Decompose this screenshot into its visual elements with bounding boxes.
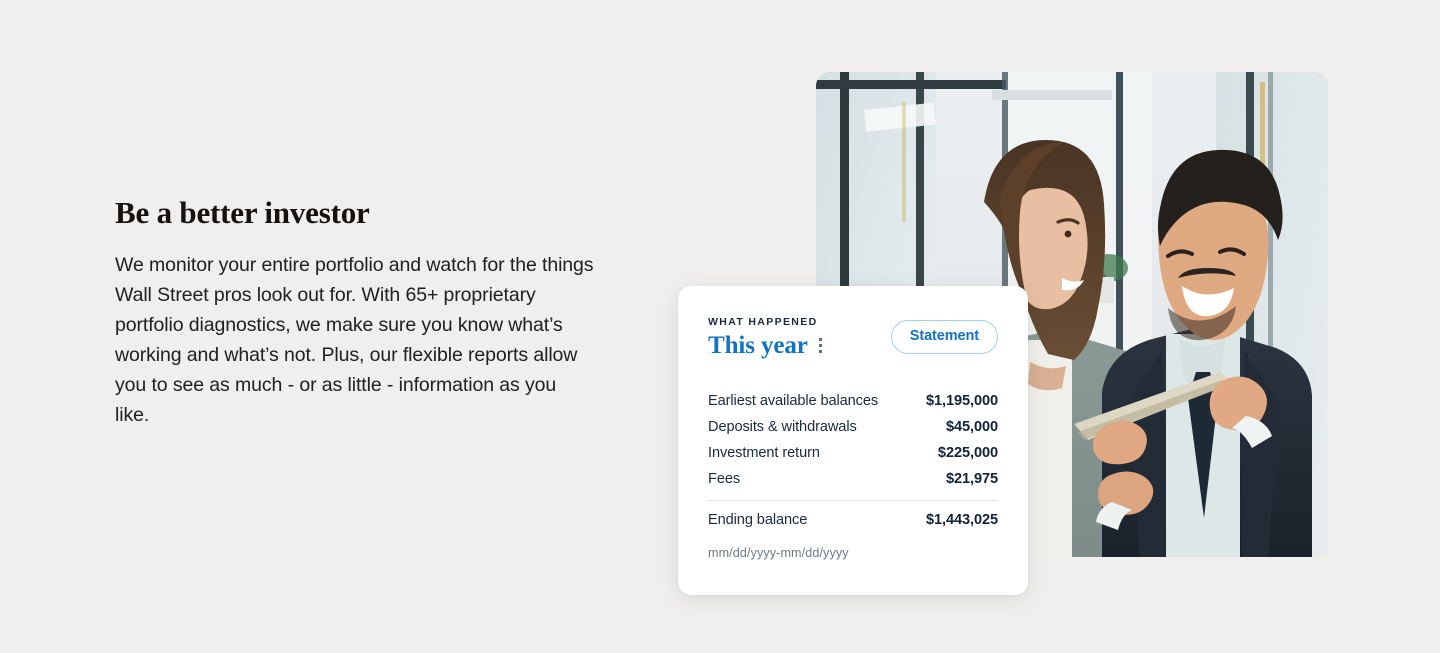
kebab-menu-icon[interactable] (817, 335, 824, 356)
row-value: $21,975 (946, 471, 998, 487)
table-row: Investment return $225,000 (708, 440, 998, 466)
page-description: We monitor your entire portfolio and wat… (115, 250, 595, 430)
row-divider (708, 500, 998, 501)
row-label: Fees (708, 471, 740, 487)
total-label: Ending balance (708, 512, 807, 528)
row-value: $45,000 (946, 419, 998, 435)
table-row: Fees $21,975 (708, 466, 998, 492)
row-value: $1,195,000 (926, 393, 998, 409)
page-root: Be a better investor We monitor your ent… (0, 0, 1440, 653)
row-label: Investment return (708, 445, 820, 461)
row-label: Earliest available balances (708, 393, 878, 409)
statement-button[interactable]: Statement (891, 320, 998, 354)
table-row-total: Ending balance $1,443,025 (708, 507, 998, 533)
row-value: $225,000 (938, 445, 998, 461)
what-happened-card: WHAT HAPPENED This year Statement Earlie… (678, 286, 1028, 595)
page-title: Be a better investor (115, 196, 605, 231)
kebab-dot (819, 338, 822, 341)
kebab-dot (819, 350, 822, 353)
card-title: This year (708, 333, 808, 358)
kebab-dot (819, 344, 822, 347)
table-row: Deposits & withdrawals $45,000 (708, 414, 998, 440)
total-value: $1,443,025 (926, 512, 998, 528)
summary-rows: Earliest available balances $1,195,000 D… (708, 388, 998, 560)
table-row: Earliest available balances $1,195,000 (708, 388, 998, 414)
card-header: WHAT HAPPENED This year Statement (708, 316, 998, 378)
date-range-text: mm/dd/yyyy-mm/dd/yyyy (708, 546, 998, 560)
intro-copy-block: Be a better investor We monitor your ent… (115, 196, 605, 430)
row-label: Deposits & withdrawals (708, 419, 857, 435)
